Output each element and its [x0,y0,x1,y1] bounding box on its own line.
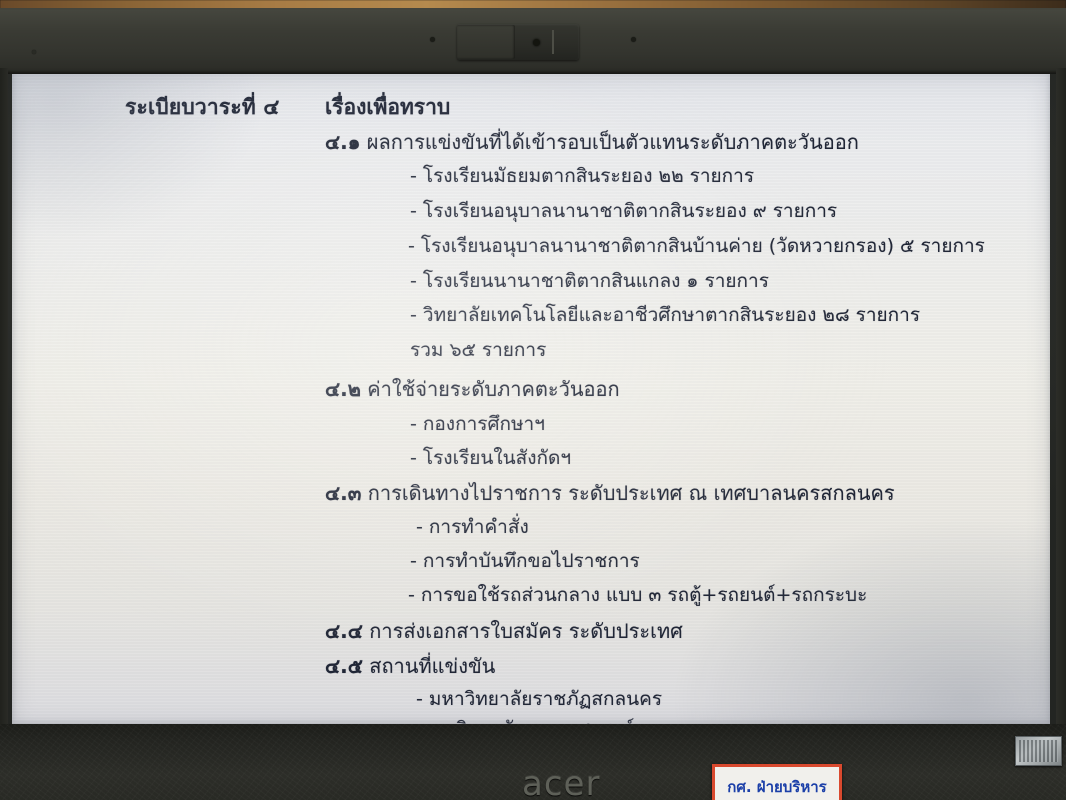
bezel-screw-dot-icon [32,50,36,54]
screen-bezel-right [1056,68,1066,728]
list-item: - การทำคำสั่ง [416,512,529,542]
section-4-5-number: ๔.๕ [325,654,363,678]
photograph-of-laptop-screen: ระเบียบวาระที่ ๔ เรื่องเพื่อทราบ ๔.๑ ผลก… [0,0,1066,800]
list-item: - วิทยาลัยเทคโนโลยีและอาชีวศึกษาตากสินระ… [410,300,920,330]
section-4-4-text: การส่งเอกสารใบสมัคร ระดับประเทศ [369,619,683,643]
webcam-module [457,24,579,60]
asset-tag-text: กศ. ฝ่ายบริหาร [727,775,826,799]
laptop-lid: ระเบียบวาระที่ ๔ เรื่องเพื่อทราบ ๔.๑ ผลก… [0,8,1066,800]
screen-bezel-left [0,68,8,728]
shutter-notch-icon [552,30,554,54]
microphone-dot-left-icon [430,37,435,42]
section-4-3-text: การเดินทางไปราชการ ระดับประเทศ ณ เทศบาลน… [368,481,895,505]
section-4-2-number: ๔.๒ [325,377,361,401]
section-4-2-title: ๔.๒ ค่าใช้จ่ายระดับภาคตะวันออก [325,373,620,405]
list-item: - การขอใช้รถส่วนกลาง แบบ ๓ รถตู้+รถยนต์+… [408,580,867,610]
section-4-4-title: ๔.๔ การส่งเอกสารใบสมัคร ระดับประเทศ [325,615,683,647]
list-item: - โรงเรียนนานาชาติตากสินแกลง ๑ รายการ [410,266,769,296]
asset-tag-sticker: กศ. ฝ่ายบริหาร [712,764,842,800]
service-barcode-label [1015,736,1062,766]
list-item: - มหาวิทยาลัยราชภัฏสกลนคร [416,684,662,714]
screen-bezel-top [0,8,1066,74]
section-4-3-title: ๔.๓ การเดินทางไปราชการ ระดับประเทศ ณ เทศ… [325,477,895,509]
section-4-1-number: ๔.๑ [325,130,360,154]
section-4-2-text: ค่าใช้จ่ายระดับภาคตะวันออก [367,377,619,401]
section-4-5-text: สถานที่แข่งขัน [369,654,495,678]
list-item: - กองการศึกษาฯ [410,409,545,439]
list-item: - โรงเรียนมัธยมตากสินระยอง ๒๒ รายการ [410,161,754,191]
webcam-lens-icon [533,39,540,46]
presentation-slide: ระเบียบวาระที่ ๔ เรื่องเพื่อทราบ ๔.๑ ผลก… [12,74,1050,726]
list-item: - การทำบันทึกขอไปราชการ [410,546,640,576]
section-4-5-title: ๔.๕ สถานที่แข่งขัน [325,650,495,682]
section-4-1-title: ๔.๑ ผลการแข่งขันที่ได้เข้ารอบเป็นตัวแทนร… [325,126,859,158]
section-4-4-number: ๔.๔ [325,619,363,643]
list-item: - โรงเรียนในสังกัดฯ [410,443,571,473]
slide-heading: เรื่องเพื่อทราบ [325,91,450,124]
section-4-1-text: ผลการแข่งขันที่ได้เข้ารอบเป็นตัวแทนระดับ… [367,130,859,154]
microphone-dot-right-icon [631,37,636,42]
section-4-3-number: ๔.๓ [325,481,361,505]
webcam-privacy-shutter-icon[interactable] [457,25,515,59]
acer-brand-logo: acer [522,764,600,800]
section-4-1-summary: รวม ๖๕ รายการ [410,335,546,365]
list-item: - โรงเรียนอนุบาลนานาชาติตากสินบ้านค่าย (… [408,231,985,261]
laptop-screen: ระเบียบวาระที่ ๔ เรื่องเพื่อทราบ ๔.๑ ผลก… [12,74,1050,726]
agenda-label: ระเบียบวาระที่ ๔ [125,91,280,124]
list-item: - โรงเรียนอนุบาลนานาชาติตากสินระยอง ๙ รา… [410,196,837,226]
